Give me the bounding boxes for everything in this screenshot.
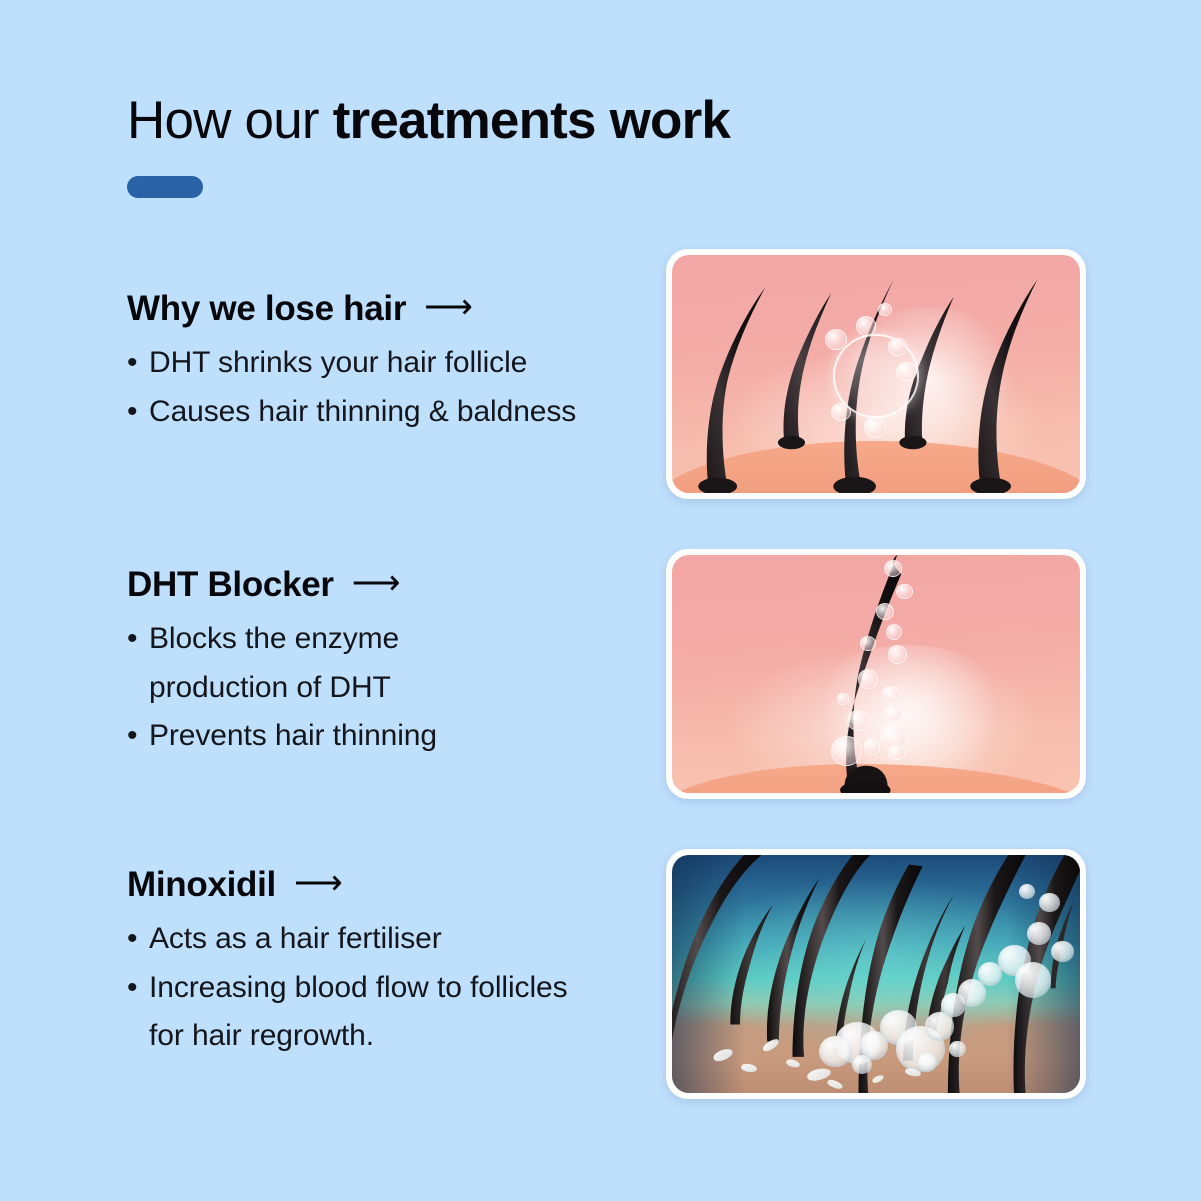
foam-bubble: [1039, 893, 1059, 912]
image-card-dht-blocker: [666, 549, 1086, 799]
list-item: Blocks the enzyme production of DHT: [127, 615, 667, 712]
section-heading-label: Minoxidil: [127, 865, 276, 905]
droplet: [860, 636, 876, 651]
foam-bubble: [1015, 962, 1052, 998]
bullet-list-minoxidil: Acts as a hair fertiliser Increasing blo…: [127, 915, 667, 1061]
section-heading-why-we-lose-hair[interactable]: Why we lose hair ⟶: [127, 289, 667, 329]
image-card-why-we-lose-hair: [666, 249, 1086, 499]
accent-pill: [127, 176, 203, 198]
page-header: How our treatments work: [127, 92, 1027, 149]
droplet: [888, 745, 904, 760]
list-item: Acts as a hair fertiliser: [127, 915, 667, 964]
image-card-inner: [672, 255, 1080, 493]
droplet: [896, 362, 916, 381]
droplet: [864, 738, 880, 754]
foam-bubble: [949, 1041, 965, 1058]
droplet: [837, 693, 849, 705]
droplet: [888, 338, 906, 355]
foam-bubble: [917, 1053, 937, 1072]
arrow-right-icon: ⟶: [294, 866, 342, 900]
foam-bubble: [1051, 941, 1073, 962]
image-card-minoxidil: [666, 849, 1086, 1099]
bullet-list-why-we-lose-hair: DHT shrinks your hair follicle Causes ha…: [127, 339, 667, 436]
section-why-we-lose-hair: Why we lose hair ⟶ DHT shrinks your hair…: [127, 289, 667, 436]
arrow-right-icon: ⟶: [352, 566, 400, 600]
foam-bubble: [819, 1036, 852, 1067]
droplet: [831, 736, 862, 767]
page-title: How our treatments work: [127, 92, 1027, 149]
page-title-bold: treatments work: [333, 91, 730, 150]
image-card-inner: [672, 855, 1080, 1093]
list-item: DHT shrinks your hair follicle: [127, 339, 667, 388]
droplet: [864, 417, 886, 438]
bullet-list-dht-blocker: Blocks the enzyme production of DHT Prev…: [127, 615, 667, 761]
section-heading-label: Why we lose hair: [127, 289, 406, 329]
section-minoxidil: Minoxidil ⟶ Acts as a hair fertiliser In…: [127, 865, 667, 1061]
list-item: Increasing blood flow to follicles for h…: [127, 964, 667, 1061]
section-heading-dht-blocker[interactable]: DHT Blocker ⟶: [127, 565, 667, 605]
arrow-right-icon: ⟶: [424, 290, 472, 324]
droplet: [888, 645, 906, 664]
droplet: [847, 710, 869, 731]
section-heading-minoxidil[interactable]: Minoxidil ⟶: [127, 865, 667, 905]
foam-bubble: [852, 1055, 872, 1074]
section-dht-blocker: DHT Blocker ⟶ Blocks the enzyme producti…: [127, 565, 667, 761]
page-title-light: How our: [127, 91, 333, 150]
section-heading-label: DHT Blocker: [127, 565, 334, 605]
list-item: Causes hair thinning & baldness: [127, 388, 667, 437]
droplet: [896, 584, 912, 599]
droplet: [825, 329, 847, 350]
droplet: [856, 316, 876, 336]
image-card-inner: [672, 555, 1080, 793]
foam-bubble: [1019, 884, 1035, 899]
list-item: Prevents hair thinning: [127, 712, 667, 761]
droplet: [858, 669, 878, 689]
